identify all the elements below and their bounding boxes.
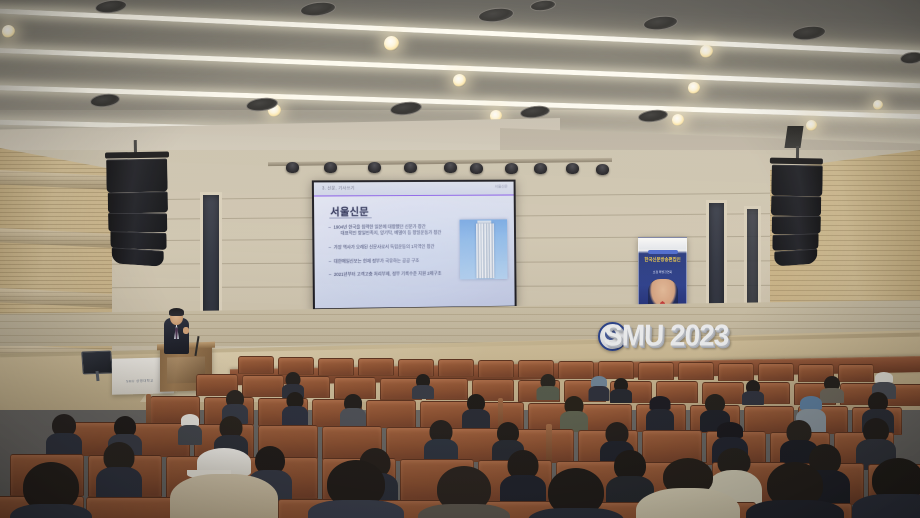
stage-light xyxy=(566,163,579,174)
slide-bullet-text: 가장 역사가 오래된 신문사로서 독립운동의 1지역인 창간 xyxy=(334,244,435,250)
acoustic-panel-fold xyxy=(0,228,112,248)
person-beanie-icon xyxy=(650,396,671,410)
ceiling-downlight xyxy=(453,74,466,87)
stage-light xyxy=(286,162,299,173)
line-array-speaker-left xyxy=(103,151,175,270)
speaker-cabinet xyxy=(771,216,820,234)
ceiling-downlight xyxy=(2,25,15,38)
audience-member xyxy=(588,376,609,400)
seat-back xyxy=(478,360,514,378)
person-body xyxy=(418,504,510,518)
person-body xyxy=(852,494,920,518)
slide-bullet: 2021년부터 고객고충 처리부제, 정부 기록수준 지원 2제구조 xyxy=(329,271,457,279)
slide-bullet-list: 1904년 한국을 침략한 일본에 대항했던 신문가 창간 대표적인 항일민족지… xyxy=(328,224,457,286)
person-body xyxy=(170,474,278,518)
person-body xyxy=(742,391,764,405)
projection-screen: 3. 신문, 기사쓰기 서울신문 서울신문 1904년 한국을 침략한 일본에 … xyxy=(312,180,517,311)
ceiling-projector xyxy=(784,126,803,148)
seat-back xyxy=(358,358,394,376)
person-body xyxy=(588,386,609,401)
seat-back xyxy=(238,356,274,374)
speaker-frame-bar xyxy=(105,151,169,158)
audience-member xyxy=(178,414,202,444)
banner-top-strip xyxy=(639,238,686,249)
slide-bullet-text: 대한매일신보는 현재 정부가 국유하는 공공 구조 xyxy=(334,258,419,264)
audience-member xyxy=(282,392,308,424)
ceiling-downlight xyxy=(873,100,883,110)
person-beanie-icon xyxy=(800,396,822,410)
slide-header-right-text: 서울신문 xyxy=(495,184,508,189)
person-body xyxy=(528,508,624,518)
seat-back xyxy=(678,362,714,380)
seat-back xyxy=(438,359,474,377)
stage-light xyxy=(596,164,609,175)
person-body xyxy=(636,488,740,518)
banner-tag-badge xyxy=(648,250,678,254)
audience-member xyxy=(96,442,142,500)
seat-back xyxy=(718,363,754,381)
person-body xyxy=(282,406,308,426)
auditorium-photo: 3. 신문, 기사쓰기 서울신문 서울신문 1904년 한국을 침략한 일본에 … xyxy=(0,0,920,518)
speaker-frame-bar xyxy=(769,158,822,165)
person-body xyxy=(610,389,632,403)
seat-back xyxy=(242,375,284,397)
acoustic-panel-fold xyxy=(0,170,112,190)
speaker-cabinet xyxy=(107,192,168,214)
audience-member-foreground xyxy=(170,448,278,518)
presenter-hand xyxy=(183,327,189,334)
audience-member-foreground xyxy=(852,458,920,518)
slide-building-photo xyxy=(460,219,508,279)
person-beanie-icon xyxy=(717,422,743,438)
person-body xyxy=(646,409,674,432)
stage-light xyxy=(470,163,483,174)
audience-member xyxy=(424,420,458,462)
skyscraper-shape xyxy=(476,223,494,278)
line-array-speaker-right xyxy=(765,158,825,267)
seat-back xyxy=(758,363,794,381)
presenter-hair xyxy=(169,308,184,316)
speaker-cabinet xyxy=(771,165,823,197)
audience-member xyxy=(646,396,674,430)
stage-light xyxy=(505,163,518,174)
speaker-cabinet xyxy=(112,247,164,267)
stage-logo-letters: SMU 2023 xyxy=(603,319,729,354)
speaker-cabinet xyxy=(108,213,167,233)
stage-light xyxy=(324,162,337,173)
audience-member-foreground xyxy=(746,462,844,518)
audience-seating-area xyxy=(0,350,920,518)
wall-dark-panel-left xyxy=(200,192,222,322)
person-body xyxy=(10,504,92,518)
audience-member-foreground xyxy=(308,460,404,518)
person-body xyxy=(340,408,366,428)
banner-subtitle: 초청 특별강연회 xyxy=(643,271,682,275)
slide-bullet: 가장 역사가 오래된 신문사로서 독립운동의 1지역인 창간 xyxy=(329,244,457,251)
ceiling-downlight xyxy=(806,120,817,131)
ceiling-downlight xyxy=(688,82,700,94)
ceiling-downlight xyxy=(384,36,399,51)
acoustic-panel-fold xyxy=(0,288,112,308)
person-body xyxy=(308,500,404,518)
audience-member-foreground xyxy=(418,466,510,518)
slide-bullet: 대한매일신보는 현재 정부가 국유하는 공공 구조 xyxy=(329,257,457,265)
slide-title: 서울신문 xyxy=(330,203,369,218)
speaker-cabinet xyxy=(106,158,168,192)
slide-header-left-text: 3. 신문, 기사쓰기 xyxy=(322,185,355,191)
audience-member xyxy=(412,374,434,398)
slide-title-underline xyxy=(329,217,371,218)
person-body xyxy=(746,500,844,518)
stage-light xyxy=(404,162,417,173)
audience-member-foreground xyxy=(636,458,740,518)
slide-bullet-text: 2021년부터 고객고충 처리부제, 정부 기록수준 지원 2제구조 xyxy=(334,271,442,277)
person-body xyxy=(412,385,434,399)
slide-bullet-subtext: 대표적인 항일민족지, 양기탁, 베델이 등 항일운동가 창간 xyxy=(334,230,457,237)
speaker-cabinet xyxy=(771,196,821,217)
ceiling-vent xyxy=(637,108,668,124)
audience-member xyxy=(340,394,366,426)
person-body xyxy=(536,386,559,400)
seat-back xyxy=(638,362,674,380)
stage-light xyxy=(444,162,457,173)
speaker-cabinet xyxy=(774,249,817,267)
audience-member xyxy=(536,374,559,399)
seat-back xyxy=(366,400,416,428)
audience-member xyxy=(46,414,82,458)
seat-back xyxy=(318,358,354,376)
audience-member xyxy=(610,378,632,402)
ceiling-downlight xyxy=(672,114,684,126)
wall-dark-panel-right xyxy=(706,200,727,318)
slide-bullet: 1904년 한국을 침략한 일본에 대항했던 신문가 창간 대표적인 항일민족지… xyxy=(328,224,456,237)
presentation-slide: 3. 신문, 기사쓰기 서울신문 서울신문 1904년 한국을 침략한 일본에 … xyxy=(314,182,515,309)
banner-title: 한국신문방송편집인 xyxy=(643,257,682,263)
audience-member xyxy=(742,380,764,404)
stage-light xyxy=(534,163,547,174)
seat-back xyxy=(86,497,180,518)
audience-member-foreground xyxy=(10,462,92,518)
slide-bullet-text: 1904년 한국을 침략한 일본에 대항했던 신문가 창간 xyxy=(333,224,425,230)
stage-light xyxy=(368,162,381,173)
audience-member xyxy=(462,394,490,428)
wall-dark-panel-far-right xyxy=(744,206,761,310)
person-body xyxy=(462,409,490,430)
ceiling-downlight xyxy=(700,45,713,58)
audience-member xyxy=(560,396,588,430)
person-body xyxy=(178,425,202,445)
audience-member-foreground xyxy=(528,468,624,518)
